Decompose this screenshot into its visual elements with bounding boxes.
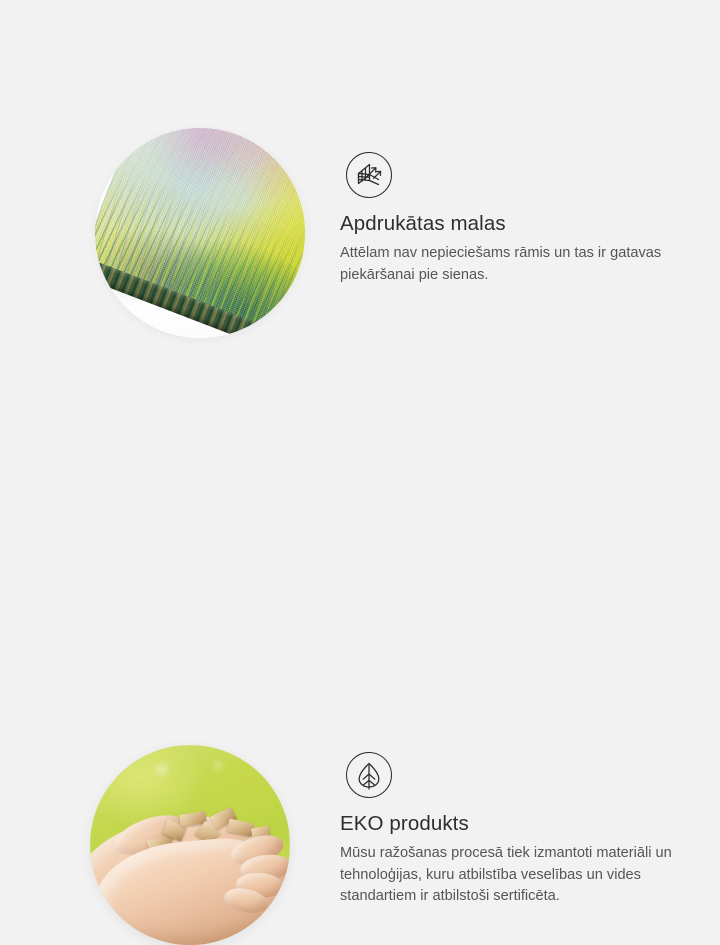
canvas-wrapped-edge-icon <box>346 152 392 198</box>
feature-title-eco-product: EKO produkts <box>340 812 469 836</box>
leaf-glyph <box>347 753 391 797</box>
feature-description-printed-edges: Attēlam nav nepieciešams rāmis un tas ir… <box>340 243 688 286</box>
canvas-print-corner-photo <box>95 128 305 338</box>
feature-title-printed-edges: Apdrukātas malas <box>340 212 506 236</box>
hands-holding-wood-chips-photo <box>90 745 290 945</box>
feature-description-eco-product: Mūsu ražošanas procesā tiek izmantoti ma… <box>340 843 688 908</box>
product-features-page: Apdrukātas malas Attēlam nav nepieciešam… <box>0 0 720 720</box>
feature-eco-product: EKO produkts Mūsu ražošanas procesā tiek… <box>0 360 720 720</box>
canvas-wrapped-edge-glyph <box>347 153 391 197</box>
leaf-icon <box>346 752 392 798</box>
feature-printed-edges: Apdrukātas malas Attēlam nav nepieciešam… <box>0 0 720 360</box>
